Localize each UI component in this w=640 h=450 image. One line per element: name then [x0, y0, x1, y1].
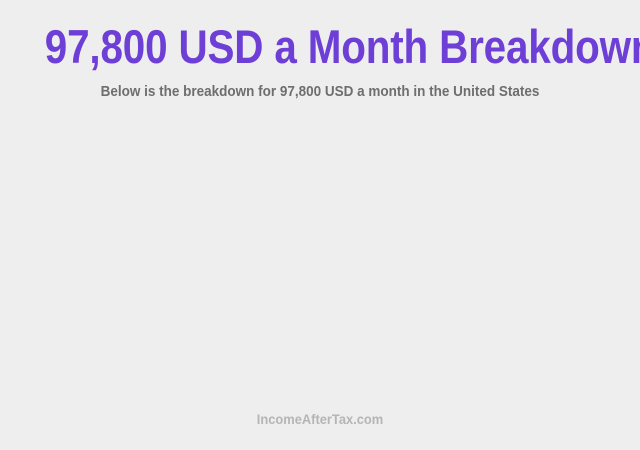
page-subtitle: Below is the breakdown for 97,800 USD a … [32, 83, 608, 101]
page-title: 97,800 USD a Month Breakdown [45, 19, 595, 75]
breakdown-content-area [0, 112, 640, 412]
page-footer: IncomeAfterTax.com [0, 410, 640, 450]
breakdown-page: 97,800 USD a Month Breakdown Below is th… [0, 0, 640, 450]
site-credit: IncomeAfterTax.com [26, 410, 615, 428]
